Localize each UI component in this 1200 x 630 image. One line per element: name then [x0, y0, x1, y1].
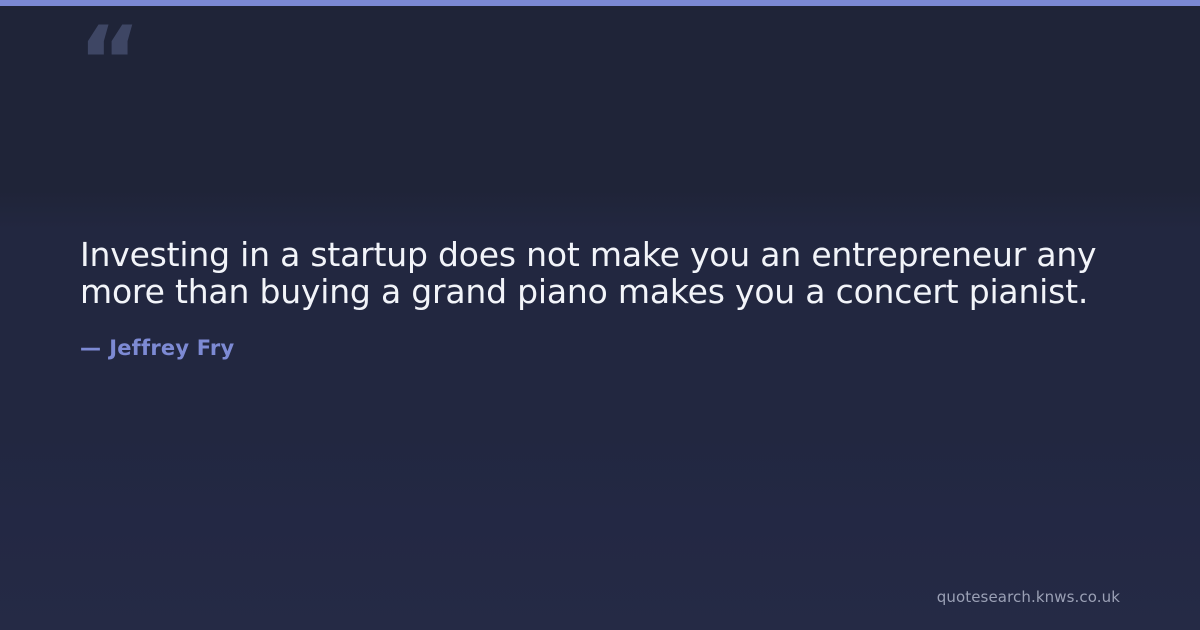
quote-attribution: —Jeffrey Fry	[80, 310, 1120, 361]
quote-mark-icon: “	[78, 14, 148, 94]
quote-content: Investing in a startup does not make you…	[80, 236, 1120, 361]
attribution-dash: —	[80, 335, 109, 361]
source-url: quotesearch.knws.co.uk	[937, 588, 1120, 606]
quote-card: “ Investing in a startup does not make y…	[0, 0, 1200, 630]
attribution-author: Jeffrey Fry	[109, 336, 234, 360]
quote-text: Investing in a startup does not make you…	[80, 236, 1120, 310]
top-accent-bar	[0, 0, 1200, 6]
